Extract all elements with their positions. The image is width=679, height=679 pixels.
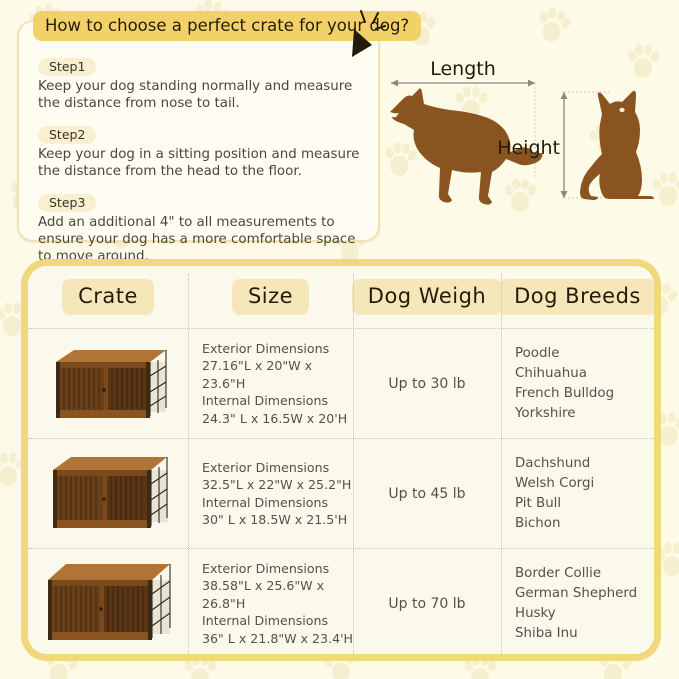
breeds-text: Border Collie German Shepherd Husky Shib…	[515, 564, 637, 644]
step-1: Step1 Keep your dog standing normally an…	[38, 58, 370, 112]
size-text: Exterior Dimensions 32.5"L x 22"W x 25.2…	[202, 459, 351, 529]
weight-cell: Up to 70 lb	[353, 549, 501, 658]
step-1-text: Keep your dog standing normally and meas…	[38, 78, 370, 112]
weight-cell: Up to 45 lb	[353, 439, 501, 548]
wooden-dog-crate-large-image	[34, 552, 182, 656]
header-cell-size: Size	[188, 266, 353, 328]
weight-cell: Up to 30 lb	[353, 329, 501, 438]
header-cell-crate: Crate	[28, 266, 188, 328]
header-label-size: Size	[232, 279, 309, 315]
step-3-text: Add an additional 4" to all measurements…	[38, 214, 370, 265]
size-cell: Exterior Dimensions 27.16"L x 20"W x 23.…	[188, 329, 353, 438]
header-label-breeds: Dog Breeds	[498, 279, 657, 315]
crate-size-table: Crate Size Dog Weigh Dog Breeds	[21, 259, 661, 661]
header-cell-weight: Dog Weigh	[353, 266, 501, 328]
header-label-weight: Dog Weigh	[352, 279, 502, 315]
weight-text: Up to 45 lb	[388, 486, 465, 502]
crate-image-cell	[28, 549, 188, 658]
header-cell-breeds: Dog Breeds	[501, 266, 654, 328]
weight-text: Up to 30 lb	[388, 376, 465, 392]
header-label-crate: Crate	[62, 279, 154, 315]
height-label: Height	[497, 137, 560, 159]
size-cell: Exterior Dimensions 38.58"L x 25.6"W x 2…	[188, 549, 353, 658]
breeds-text: Poodle Chihuahua French Bulldog Yorkshir…	[515, 344, 614, 424]
size-cell: Exterior Dimensions 32.5"L x 22"W x 25.2…	[188, 439, 353, 548]
step-2-text: Keep your dog in a sitting position and …	[38, 146, 370, 180]
step-2: Step2 Keep your dog in a sitting positio…	[38, 126, 370, 180]
breeds-cell: Dachshund Welsh Corgi Pit Bull Bichon	[501, 439, 654, 548]
table-row: Exterior Dimensions 27.16"L x 20"W x 23.…	[28, 328, 654, 438]
wooden-dog-crate-medium-image	[37, 444, 179, 544]
how-to-choose-bubble: How to choose a perfect crate for your d…	[17, 20, 380, 242]
length-arrow	[391, 80, 535, 87]
wooden-dog-crate-small-image	[38, 336, 178, 432]
dog-measurement-diagram: Length Height	[388, 50, 668, 245]
breeds-cell: Border Collie German Shepherd Husky Shib…	[501, 549, 654, 658]
breeds-cell: Poodle Chihuahua French Bulldog Yorkshir…	[501, 329, 654, 438]
step-2-badge: Step2	[38, 126, 96, 144]
table-header-row: Crate Size Dog Weigh Dog Breeds	[28, 266, 654, 328]
step-3-badge: Step3	[38, 194, 96, 212]
step-3: Step3 Add an additional 4" to all measur…	[38, 194, 370, 265]
height-arrow	[561, 92, 568, 198]
crate-image-cell	[28, 329, 188, 438]
size-text: Exterior Dimensions 27.16"L x 20"W x 23.…	[202, 340, 353, 428]
infographic-page: How to choose a perfect crate for your d…	[0, 0, 679, 679]
breeds-text: Dachshund Welsh Corgi Pit Bull Bichon	[515, 454, 594, 534]
weight-text: Up to 70 lb	[388, 596, 465, 612]
step-1-badge: Step1	[38, 58, 96, 76]
size-text: Exterior Dimensions 38.58"L x 25.6"W x 2…	[202, 560, 353, 648]
table-row: Exterior Dimensions 38.58"L x 25.6"W x 2…	[28, 548, 654, 658]
crate-image-cell	[28, 439, 188, 548]
sitting-dog-silhouette	[580, 91, 654, 200]
spark-lines-icon	[356, 8, 386, 34]
length-label: Length	[430, 58, 496, 80]
table-row: Exterior Dimensions 32.5"L x 22"W x 25.2…	[28, 438, 654, 548]
